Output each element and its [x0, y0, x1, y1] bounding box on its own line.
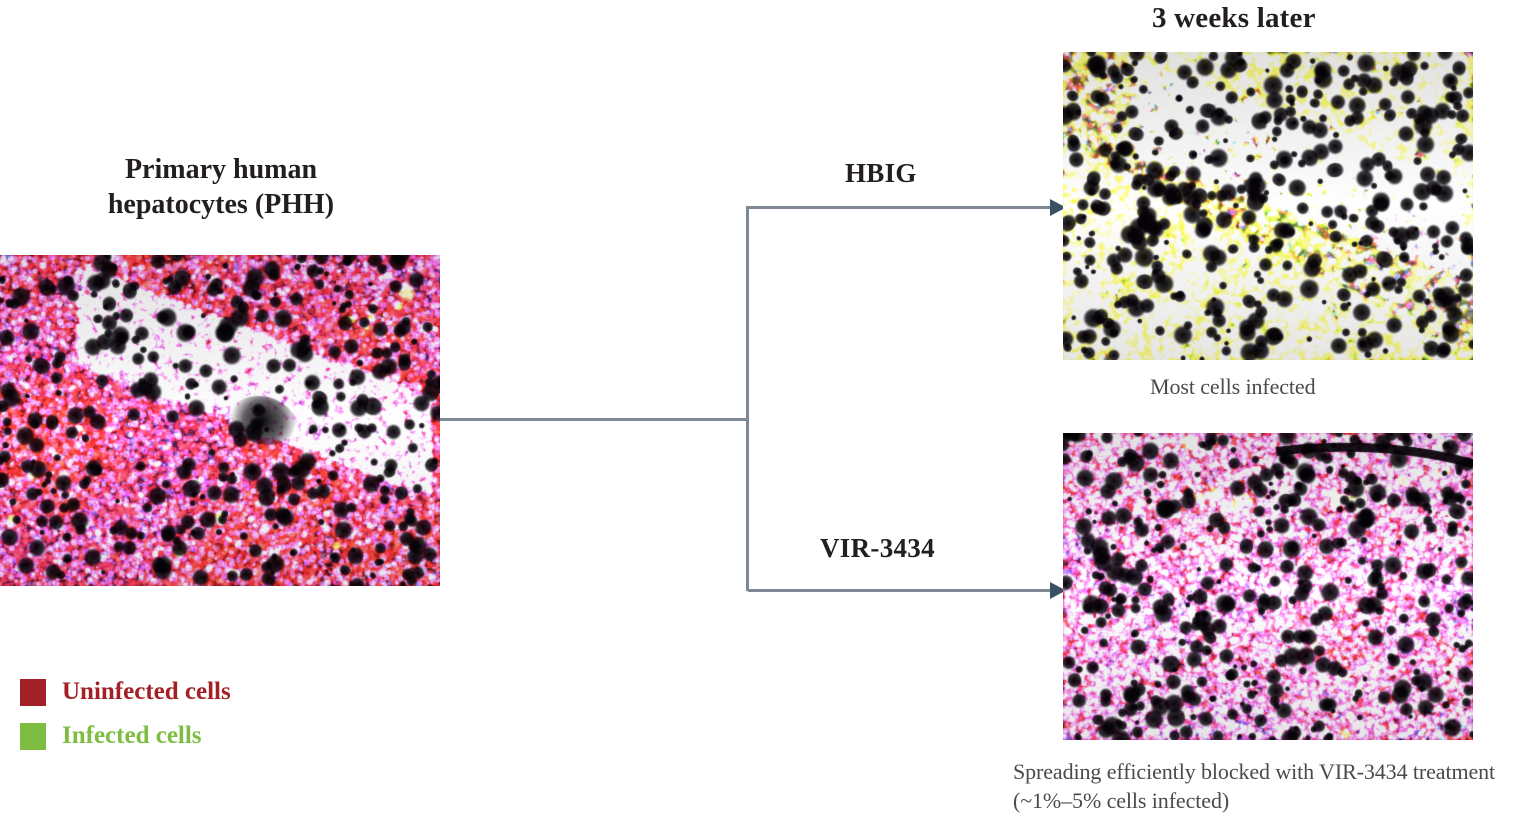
legend-label-uninfected: Uninfected cells: [62, 678, 231, 706]
legend-item-infected: Infected cells: [20, 714, 231, 758]
source-label-line-2: hepatocytes (PHH): [0, 187, 442, 222]
micrograph-hbig: [1063, 52, 1473, 360]
legend-label-infected: Infected cells: [62, 722, 202, 750]
caption-hbig: Most cells infected: [1150, 372, 1316, 401]
source-label-line-1: Primary human: [0, 152, 442, 187]
arrow-label-hbig: HBIG: [845, 158, 917, 189]
caption-vir3434: Spreading efficiently blocked with VIR-3…: [1013, 757, 1519, 816]
source-label: Primary human hepatocytes (PHH): [0, 152, 442, 223]
micrograph-vir3434: [1063, 433, 1473, 740]
page-title: 3 weeks later: [1152, 2, 1316, 35]
legend: Uninfected cells Infected cells: [20, 670, 231, 758]
arrow-label-vir3434: VIR-3434: [820, 533, 935, 564]
micrograph-phh: [0, 255, 440, 586]
figure-canvas: 3 weeks later Primary human hepatocytes …: [0, 0, 1519, 827]
legend-swatch-uninfected-icon: [20, 679, 46, 706]
legend-item-uninfected: Uninfected cells: [20, 670, 231, 714]
legend-swatch-infected-icon: [20, 723, 46, 750]
